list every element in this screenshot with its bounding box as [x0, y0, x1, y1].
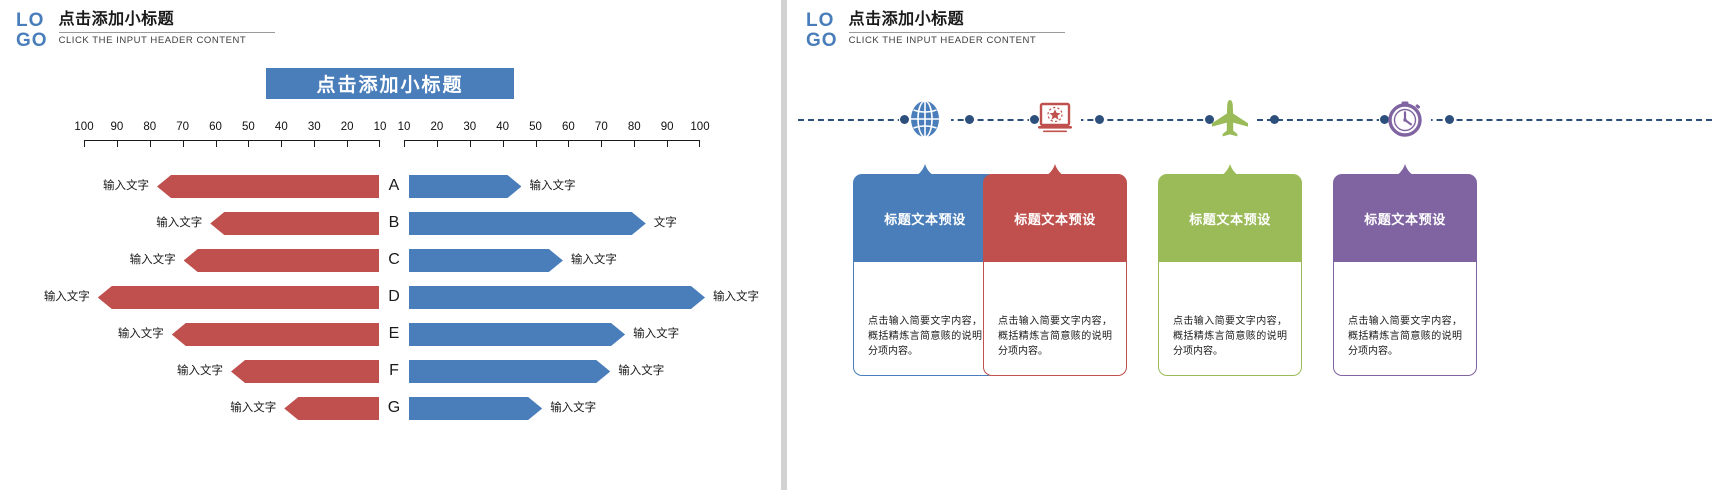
row-letter-c: C — [379, 250, 409, 270]
axis-tick-label: 10 — [398, 120, 411, 135]
tornado-chart-rows: 输入文字A输入文字输入文字B文字输入文字C输入文字输入文字D输入文字输入文字E输… — [0, 168, 780, 427]
header-subtitle: CLICK THE INPUT HEADER CONTENT — [59, 35, 275, 47]
row-letter-e: E — [379, 324, 409, 344]
card-title: 标题文本预设 — [1333, 174, 1477, 262]
header-rule — [849, 32, 1065, 33]
bar-left-b[interactable] — [210, 212, 379, 235]
bar-label-right[interactable]: 文字 — [654, 214, 677, 232]
bar-left-c[interactable] — [184, 249, 379, 272]
bar-label-right[interactable]: 输入文字 — [633, 325, 679, 343]
axis-tick-label: 20 — [430, 120, 443, 135]
bar-label-left[interactable]: 输入文字 — [177, 362, 223, 380]
card-body: 点击输入简要文字内容，概括精炼言简意赅的说明分项内容。 — [853, 262, 997, 376]
axis-right: 102030405060708090100 — [404, 120, 700, 154]
chart-row: 输入文字B文字 — [0, 205, 780, 242]
axis-left: 100908070605040302010 — [84, 120, 380, 154]
chart-row: 输入文字E输入文字 — [0, 316, 780, 353]
bar-right-d[interactable] — [409, 286, 705, 309]
bar-label-right[interactable]: 输入文字 — [571, 251, 617, 269]
axis-tick-label: 60 — [562, 120, 575, 135]
row-letter-f: F — [379, 361, 409, 381]
chart-row: 输入文字A输入文字 — [0, 168, 780, 205]
axis-tick-label: 50 — [242, 120, 255, 135]
bar-right-b[interactable] — [409, 212, 646, 235]
bar-label-left[interactable]: 输入文字 — [118, 325, 164, 343]
timeline-dot — [1445, 115, 1454, 124]
slide-left: LO GO 点击添加小标题 CLICK THE INPUT HEADER CON… — [0, 0, 780, 490]
info-card-2[interactable]: 标题文本预设点击输入简要文字内容，概括精炼言简意赅的说明分项内容。 — [983, 164, 1127, 376]
bar-label-right[interactable]: 输入文字 — [550, 399, 596, 417]
info-card-3[interactable]: 标题文本预设点击输入简要文字内容，概括精炼言简意赅的说明分项内容。 — [1158, 164, 1302, 376]
logo: LO GO — [16, 10, 48, 51]
bar-label-left[interactable]: 输入文字 — [44, 288, 90, 306]
axis-tick-label: 80 — [628, 120, 641, 135]
bar-right-f[interactable] — [409, 360, 610, 383]
row-letter-g: G — [379, 398, 409, 418]
card-body: 点击输入简要文字内容，概括精炼言简意赅的说明分项内容。 — [1158, 262, 1302, 376]
info-card-4[interactable]: 标题文本预设点击输入简要文字内容，概括精炼言简意赅的说明分项内容。 — [1333, 164, 1477, 376]
axis-tick-label: 70 — [176, 120, 189, 135]
stopwatch-icon[interactable] — [1382, 96, 1428, 142]
row-letter-b: B — [379, 213, 409, 233]
chart-row: 输入文字D输入文字 — [0, 279, 780, 316]
card-title: 标题文本预设 — [1158, 174, 1302, 262]
bar-left-g[interactable] — [284, 397, 379, 420]
row-letter-d: D — [379, 287, 409, 307]
card-title: 标题文本预设 — [983, 174, 1127, 262]
axis-tick-label: 70 — [595, 120, 608, 135]
card-body-text: 点击输入简要文字内容，概括精炼言简意赅的说明分项内容。 — [868, 314, 982, 359]
bar-label-left[interactable]: 输入文字 — [130, 251, 176, 269]
header-title: 点击添加小标题 — [59, 10, 275, 29]
bar-label-left[interactable]: 输入文字 — [156, 214, 202, 232]
slide-right: LO GO 点击添加小标题 CLICK THE INPUT HEADER CON… — [790, 0, 1720, 490]
card-body-text: 点击输入简要文字内容，概括精炼言简意赅的说明分项内容。 — [1173, 314, 1287, 359]
axis-tick-labels: 102030405060708090100 — [404, 120, 700, 135]
header-texts: 点击添加小标题 CLICK THE INPUT HEADER CONTENT — [59, 10, 275, 47]
bar-label-right[interactable]: 输入文字 — [529, 177, 575, 195]
axis-tick-label: 100 — [74, 120, 93, 135]
bar-right-a[interactable] — [409, 175, 521, 198]
axis-tick-label: 90 — [110, 120, 123, 135]
bar-right-g[interactable] — [409, 397, 542, 420]
row-letter-a: A — [379, 176, 409, 196]
axis-tick-label: 90 — [661, 120, 674, 135]
axis-tick-labels: 100908070605040302010 — [84, 120, 380, 135]
laptop-star-icon[interactable] — [1032, 96, 1078, 142]
slides-canvas: LO GO 点击添加小标题 CLICK THE INPUT HEADER CON… — [0, 0, 1720, 490]
header-subtitle: CLICK THE INPUT HEADER CONTENT — [849, 35, 1065, 47]
bar-left-f[interactable] — [231, 360, 379, 383]
axis-tick-label: 80 — [143, 120, 156, 135]
slide-right-header: LO GO 点击添加小标题 CLICK THE INPUT HEADER CON… — [806, 10, 1065, 51]
axis-tick-label: 100 — [690, 120, 709, 135]
card-body: 点击输入简要文字内容，概括精炼言简意赅的说明分项内容。 — [1333, 262, 1477, 376]
bar-label-left[interactable]: 输入文字 — [230, 399, 276, 417]
timeline-dot — [965, 115, 974, 124]
bar-left-e[interactable] — [172, 323, 379, 346]
header-title: 点击添加小标题 — [849, 10, 1065, 29]
airplane-icon[interactable] — [1207, 96, 1253, 142]
axis-tick-label: 60 — [209, 120, 222, 135]
logo-line-1: LO — [806, 11, 838, 31]
header-texts: 点击添加小标题 CLICK THE INPUT HEADER CONTENT — [849, 10, 1065, 47]
card-body: 点击输入简要文字内容，概括精炼言简意赅的说明分项内容。 — [983, 262, 1127, 376]
axis-tick-label: 10 — [374, 120, 387, 135]
bar-label-left[interactable]: 输入文字 — [103, 177, 149, 195]
chart-row: 输入文字G输入文字 — [0, 390, 780, 427]
slide-left-header: LO GO 点击添加小标题 CLICK THE INPUT HEADER CON… — [16, 10, 275, 51]
logo-line-2: GO — [16, 31, 48, 51]
chart-row: 输入文字F输入文字 — [0, 353, 780, 390]
axis-tick-label: 20 — [341, 120, 354, 135]
slide-divider — [781, 0, 787, 490]
axis-ticks — [404, 140, 700, 147]
axis-tick-label: 30 — [308, 120, 321, 135]
card-title: 标题文本预设 — [853, 174, 997, 262]
bar-left-d[interactable] — [98, 286, 379, 309]
logo: LO GO — [806, 10, 838, 51]
card-body-text: 点击输入简要文字内容，概括精炼言简意赅的说明分项内容。 — [998, 314, 1112, 359]
axis-tick-label: 50 — [529, 120, 542, 135]
chart-row: 输入文字C输入文字 — [0, 242, 780, 279]
bar-right-e[interactable] — [409, 323, 625, 346]
axis-tick-label: 30 — [463, 120, 476, 135]
globe-icon[interactable] — [902, 96, 948, 142]
timeline-dot — [1095, 115, 1104, 124]
card-body-text: 点击输入简要文字内容，概括精炼言简意赅的说明分项内容。 — [1348, 314, 1462, 359]
bar-right-c[interactable] — [409, 249, 563, 272]
banner-title[interactable]: 点击添加小标题 — [266, 68, 514, 99]
timeline-dot — [1270, 115, 1279, 124]
info-card-1[interactable]: 标题文本预设点击输入简要文字内容，概括精炼言简意赅的说明分项内容。 — [853, 164, 997, 376]
axis-tick-label: 40 — [275, 120, 288, 135]
bar-label-right[interactable]: 输入文字 — [618, 362, 664, 380]
logo-line-2: GO — [806, 31, 838, 51]
bar-label-right[interactable]: 输入文字 — [713, 288, 759, 306]
axis-ticks — [84, 140, 380, 147]
bar-left-a[interactable] — [157, 175, 379, 198]
axis-tick-label: 40 — [496, 120, 509, 135]
logo-line-1: LO — [16, 11, 48, 31]
header-rule — [59, 32, 275, 33]
